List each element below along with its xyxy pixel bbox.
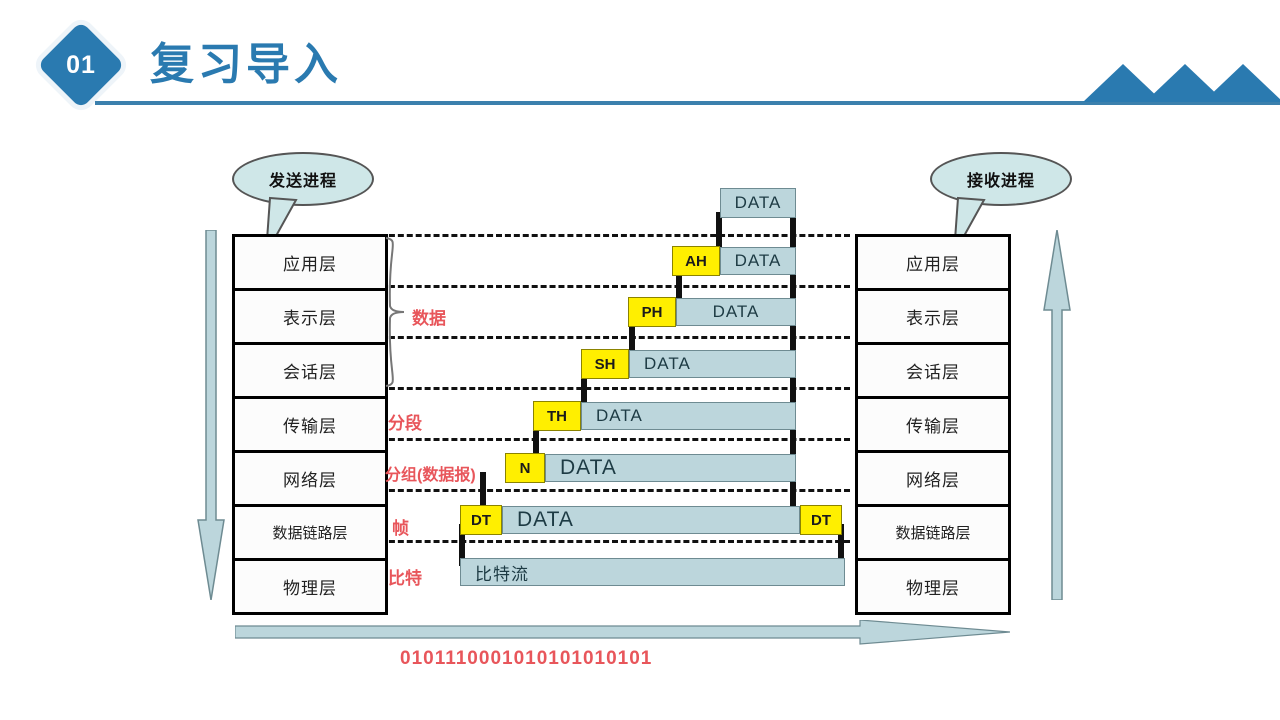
sender-layer-datalink[interactable]: 数据链路层: [235, 507, 385, 561]
payload-block-network: DATA: [545, 454, 796, 482]
sender-layer-stack: 应用层 表示层 会话层 传输层 网络层 数据链路层 物理层: [232, 234, 388, 615]
sender-layer-network[interactable]: 网络层: [235, 453, 385, 507]
sender-layer-transport[interactable]: 传输层: [235, 399, 385, 453]
payload-block-presentation: DATA: [676, 298, 796, 326]
layer-divider: [380, 387, 850, 390]
receiver-layer-physical[interactable]: 物理层: [858, 561, 1008, 612]
sender-layer-presentation[interactable]: 表示层: [235, 291, 385, 345]
header-block-dt: DT: [460, 505, 502, 535]
receiver-layer-network[interactable]: 网络层: [858, 453, 1008, 507]
layer-divider: [380, 285, 850, 288]
layer-divider: [380, 336, 850, 339]
receiver-layer-datalink[interactable]: 数据链路层: [858, 507, 1008, 561]
sender-layer-physical[interactable]: 物理层: [235, 561, 385, 612]
unit-label-data: 数据: [412, 304, 446, 329]
layer-divider: [380, 489, 850, 492]
receiver-layer-application[interactable]: 应用层: [858, 237, 1008, 291]
receiver-layer-transport[interactable]: 传输层: [858, 399, 1008, 453]
section-number-label: 01: [50, 34, 112, 96]
sender-process-label: 发送进程: [269, 167, 337, 191]
header-block-n: N: [505, 453, 545, 483]
payload-block-physical: 比特流: [460, 558, 845, 586]
layer-divider: [380, 540, 850, 543]
receiver-layer-presentation[interactable]: 表示层: [858, 291, 1008, 345]
mountain-peaks-icon: [1075, 58, 1280, 102]
sender-layer-session[interactable]: 会话层: [235, 345, 385, 399]
page-title: 复习导入: [150, 34, 342, 96]
receiver-layer-stack: 应用层 表示层 会话层 传输层 网络层 数据链路层 物理层: [855, 234, 1011, 615]
header-block-ah: AH: [672, 246, 720, 276]
unit-label-bit: 比特: [388, 564, 422, 589]
header-block-ph: PH: [628, 297, 676, 327]
layer-divider: [380, 234, 850, 237]
header-block-th: TH: [533, 401, 581, 431]
layer-divider: [380, 438, 850, 441]
data-brace: [382, 236, 408, 388]
payload-block-transport: DATA: [581, 402, 796, 430]
unit-label-packet: 分组(数据报): [385, 461, 476, 485]
right-arrow-icon: [235, 620, 1010, 646]
unit-label-segment: 分段: [388, 409, 422, 434]
unit-label-frame: 帧: [392, 514, 409, 539]
payload-block-top: DATA: [720, 188, 796, 218]
receiver-process-label: 接收进程: [967, 167, 1035, 191]
osi-encapsulation-diagram: 发送进程 接收进程 应用层 表示层 会话层 传输层 网络层 数据链路层 物理层 …: [0, 130, 1280, 720]
bit-stream-value: 0101110001010101010101: [400, 648, 652, 670]
payload-block-session: DATA: [629, 350, 796, 378]
header-block-sh: SH: [581, 349, 629, 379]
up-arrow-icon: [1042, 230, 1072, 600]
payload-block-datalink: DATA: [502, 506, 800, 534]
down-arrow-icon: [196, 230, 226, 600]
trailer-block-dt: DT: [800, 505, 842, 535]
payload-block-application: DATA: [720, 247, 796, 275]
slide-header: 01 复习导入: [0, 0, 1280, 130]
receiver-layer-session[interactable]: 会话层: [858, 345, 1008, 399]
sender-layer-application[interactable]: 应用层: [235, 237, 385, 291]
